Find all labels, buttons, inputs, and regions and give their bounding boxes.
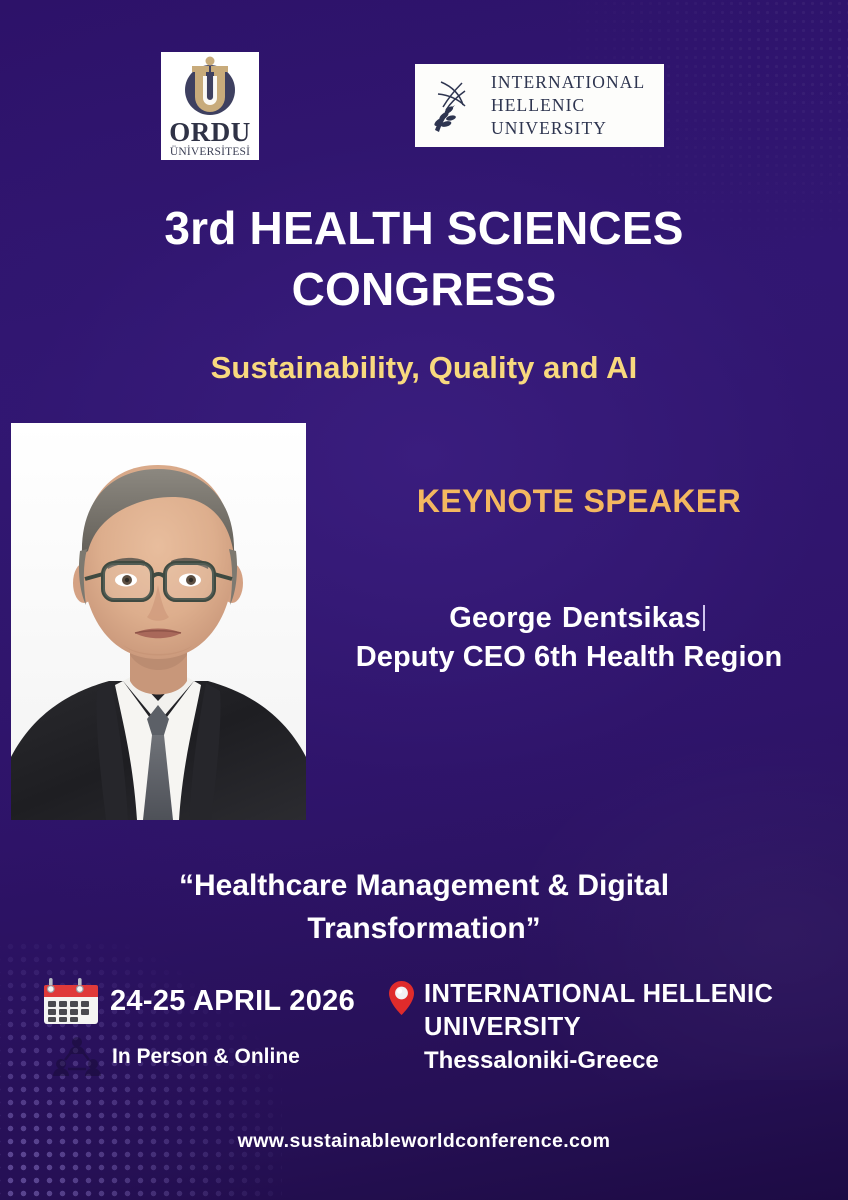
- congress-title: 3rd HEALTH SCIENCES CONGRESS: [0, 198, 848, 319]
- calendar-icon: [44, 974, 98, 1028]
- speaker-portrait-image: [11, 423, 306, 820]
- talk-title: “Healthcare Management & Digital Transfo…: [0, 865, 848, 950]
- conference-poster: ORDU ÜNİVERSİTESİ: [0, 0, 848, 1200]
- location-pin-icon: [388, 980, 415, 1016]
- speaker-photo: [11, 423, 306, 820]
- attendance-mode-row: In Person & Online: [44, 1034, 404, 1080]
- venue-name: INTERNATIONAL HELLENIC UNIVERSITY: [424, 978, 838, 1043]
- venue-text: INTERNATIONAL HELLENIC UNIVERSITY Thessa…: [424, 978, 838, 1076]
- ordu-university-logo: ORDU ÜNİVERSİTESİ: [161, 52, 259, 160]
- venue-city: Thessaloniki-Greece: [424, 1045, 838, 1076]
- hellenic-logo-line-2: HELLENIC: [491, 94, 645, 117]
- hellenic-logo-line-3: UNIVERSITY: [491, 117, 645, 140]
- attendance-mode: In Person & Online: [112, 1045, 300, 1069]
- logo-row: ORDU ÜNİVERSİTESİ: [0, 52, 848, 162]
- ordu-logo-subtitle: ÜNİVERSİTESİ: [170, 147, 250, 159]
- text-cursor-caret: [703, 605, 705, 631]
- event-venue-block: INTERNATIONAL HELLENIC UNIVERSITY Thessa…: [388, 978, 838, 1076]
- hellenic-logo-text: INTERNATIONAL HELLENIC UNIVERSITY: [491, 71, 645, 139]
- event-date-block: 24-25 APRIL 2026 In Person & Online: [44, 974, 404, 1080]
- hellenic-logo-line-1: INTERNATIONAL: [491, 71, 645, 94]
- ordu-emblem-icon: [177, 56, 243, 118]
- keynote-speaker-label: KEYNOTE SPEAKER: [310, 483, 848, 520]
- conference-website-link[interactable]: www.sustainableworldconference.com: [0, 1130, 848, 1153]
- hellenic-emblem-icon: [429, 78, 479, 134]
- ordu-logo-wordmark: ORDU: [169, 119, 251, 146]
- speaker-family-name: Dentsikas: [562, 602, 701, 634]
- speaker-role: Deputy CEO 6th Health Region: [290, 641, 848, 674]
- event-date: 24-25 APRIL 2026: [110, 985, 355, 1018]
- speaker-given-name: George: [449, 602, 552, 634]
- speaker-name: GeorgeDentsikas: [306, 602, 848, 635]
- international-hellenic-university-logo: INTERNATIONAL HELLENIC UNIVERSITY: [415, 64, 664, 147]
- people-network-icon: [52, 1034, 102, 1080]
- date-row: 24-25 APRIL 2026: [44, 974, 404, 1028]
- congress-subtitle: Sustainability, Quality and AI: [0, 350, 848, 386]
